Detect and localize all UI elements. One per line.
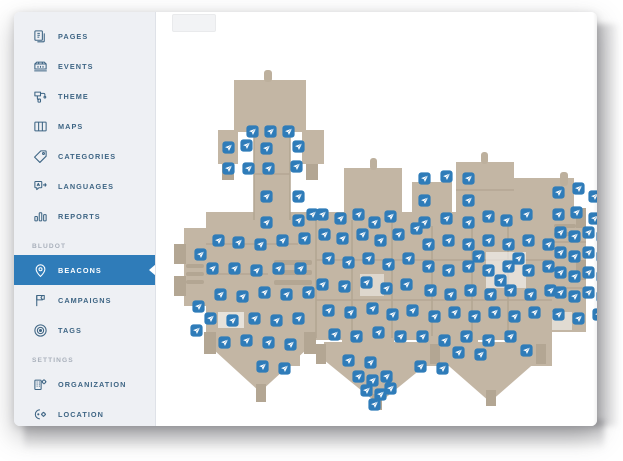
- screenshot-root: PAGES EVENTS: [0, 0, 623, 461]
- content-right-edge: [593, 12, 597, 426]
- sidebar-item-theme[interactable]: THEME: [14, 81, 155, 111]
- sidebar-item-label: EVENTS: [58, 62, 94, 71]
- sidebar: PAGES EVENTS: [14, 12, 156, 426]
- sidebar-item-label: PAGES: [58, 32, 88, 41]
- sidebar-item-label: LOCATION: [58, 410, 104, 419]
- sidebar-item-languages[interactable]: LANGUAGES: [14, 171, 155, 201]
- sidebar-item-beacons[interactable]: BEACONS: [14, 255, 155, 285]
- sidebar-item-label: CATEGORIES: [58, 152, 116, 161]
- sidebar-item-location[interactable]: LOCATION: [14, 399, 155, 426]
- maps-icon: [32, 118, 49, 135]
- sidebar-item-label: LANGUAGES: [58, 182, 114, 191]
- map-content-area[interactable]: [156, 12, 597, 426]
- sidebar-item-pages[interactable]: PAGES: [14, 21, 155, 51]
- sidebar-item-categories[interactable]: CATEGORIES: [14, 141, 155, 171]
- sidebar-item-tags[interactable]: TAGS: [14, 315, 155, 345]
- floorplan-svg: [156, 12, 597, 426]
- sidebar-item-organization[interactable]: ORGANIZATION: [14, 369, 155, 399]
- sidebar-item-label: CAMPAIGNS: [58, 296, 112, 305]
- categories-icon: [32, 148, 49, 165]
- sidebar-item-label: MAPS: [58, 122, 83, 131]
- sidebar-item-reports[interactable]: REPORTS: [14, 201, 155, 231]
- flag-icon: [32, 292, 49, 309]
- target-icon: [32, 322, 49, 339]
- sidebar-item-label: BEACONS: [58, 266, 102, 275]
- building-gear-icon: [32, 376, 49, 393]
- reports-icon: [32, 208, 49, 225]
- sidebar-item-campaigns[interactable]: CAMPAIGNS: [14, 285, 155, 315]
- sidebar-item-label: ORGANIZATION: [58, 380, 126, 389]
- sidebar-item-label: REPORTS: [58, 212, 101, 221]
- floorplan-map[interactable]: [156, 12, 597, 426]
- sidebar-item-maps[interactable]: MAPS: [14, 111, 155, 141]
- languages-icon: [32, 178, 49, 195]
- events-icon: [32, 58, 49, 75]
- sidebar-group-main: PAGES EVENTS: [14, 12, 155, 231]
- sidebar-item-label: THEME: [58, 92, 89, 101]
- beacon-pin-icon: [32, 262, 49, 279]
- pages-icon: [32, 28, 49, 45]
- sidebar-section-header-settings: SETTINGS: [14, 345, 155, 369]
- sidebar-item-label: TAGS: [58, 326, 82, 335]
- app-window: PAGES EVENTS: [14, 12, 597, 426]
- theme-icon: [32, 88, 49, 105]
- pin-gear-icon: [32, 406, 49, 423]
- sidebar-section-header-bludot: BLUDOT: [14, 231, 155, 255]
- sidebar-item-events[interactable]: EVENTS: [14, 51, 155, 81]
